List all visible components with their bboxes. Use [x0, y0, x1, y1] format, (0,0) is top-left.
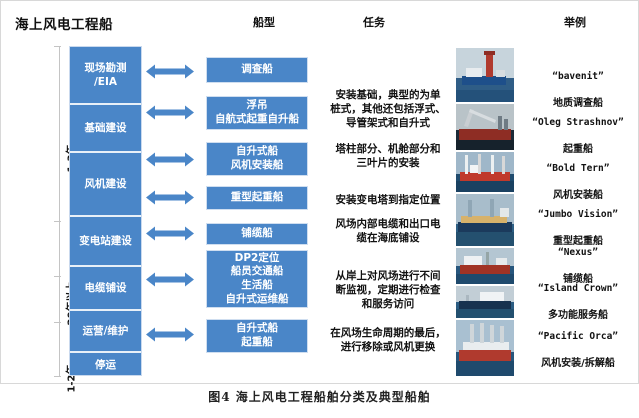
figure-caption: 图4 海上风电工程船舶分类及典型船舶 — [0, 388, 639, 405]
bracket-tick — [54, 46, 61, 47]
double-arrow-icon — [146, 104, 194, 121]
stage-label: 现场勘测 /EIA — [85, 61, 127, 89]
stage-label: 风机建设 — [85, 177, 127, 191]
shipbox-label: 自升式船 风机安装船 — [231, 145, 284, 172]
bracket-line — [59, 46, 60, 376]
bracket-tick — [54, 322, 61, 323]
example-pacific-orca: “Pacific Orca” 风机安装/拆解船 — [517, 316, 639, 385]
photo-pacific-orca — [456, 320, 514, 376]
photo-bold-tern — [456, 152, 514, 192]
shipbox-cable-layer[interactable]: 铺缆船 — [206, 223, 308, 245]
double-arrow-icon — [146, 326, 194, 343]
shipbox-label: 浮吊 自航式起重自升船 — [215, 99, 299, 126]
example-name-cn: 风机安装/拆解船 — [517, 357, 639, 371]
shipbox-floating-crane[interactable]: 浮吊 自航式起重自升船 — [206, 96, 308, 130]
shipbox-service-operation[interactable]: DP2定位 船员交通船 生活船 自升式运维船 — [206, 250, 308, 308]
task-substation: 安装变电塔到指定位置 — [323, 193, 453, 207]
example-name-en: “Island Crown” — [517, 282, 639, 295]
double-arrow-icon — [146, 225, 194, 242]
task-monitoring: 从岸上对风场进行不间 断监视，定期进行检查 和服务访问 — [323, 269, 453, 312]
photo-nexus — [456, 248, 514, 284]
stage-column: 现场勘测 /EIA 基础建设 风机建设 变电站建设 电缆铺设 运营/维护 停运 — [69, 46, 142, 376]
stage-label: 运营/维护 — [83, 324, 129, 338]
double-arrow-icon — [146, 63, 194, 80]
example-name-en: “Jumbo Vision” — [517, 208, 639, 221]
shipbox-label: DP2定位 船员交通船 生活船 自升式运维船 — [226, 252, 289, 307]
photo-oleg-strashnov — [456, 104, 514, 150]
shipbox-heavy-lift[interactable]: 重型起重船 — [206, 186, 308, 210]
task-turbine: 塔柱部分、机舱部分和 三叶片的安装 — [323, 142, 453, 170]
photo-jumbo-vision — [456, 194, 514, 246]
stage-operation-maintenance[interactable]: 运营/维护 — [70, 311, 141, 351]
bracket-tick — [54, 221, 61, 222]
task-decommission: 在风场生命周期的最后， 进行移除或风机更换 — [323, 326, 453, 354]
timeline-brackets: 1-3年 20年以上 1-2年 — [53, 46, 63, 376]
shipbox-jackup-crane[interactable]: 自升式船 起重船 — [206, 319, 308, 353]
photo-bavenit — [456, 48, 514, 102]
column-header-main: 海上风电工程船 — [15, 13, 113, 33]
example-name-en: “Oleg Strashnov” — [517, 116, 639, 129]
example-name-en: “Pacific Orca” — [517, 330, 639, 343]
example-name-en: “Bold Tern” — [517, 162, 639, 175]
column-header-ship-type: 船型 — [253, 14, 275, 30]
stage-cable-laying[interactable]: 电缆铺设 — [70, 267, 141, 309]
stage-site-survey[interactable]: 现场勘测 /EIA — [70, 47, 141, 103]
shipbox-jackup-installation[interactable]: 自升式船 风机安装船 — [206, 142, 308, 176]
task-foundation: 安装基础，典型的为单 桩式，其他还包括浮式、 导管架式和自升式 — [323, 88, 453, 131]
stage-label: 基础建设 — [85, 121, 127, 135]
example-name-en: “Nexus” — [517, 246, 639, 259]
shipbox-survey-vessel[interactable]: 调查船 — [206, 57, 308, 83]
stage-decommission[interactable]: 停运 — [70, 353, 141, 377]
stage-substation[interactable]: 变电站建设 — [70, 217, 141, 265]
double-arrow-icon — [146, 271, 194, 288]
shipbox-label: 自升式船 起重船 — [236, 322, 278, 349]
column-header-example: 举例 — [564, 14, 586, 30]
double-arrow-icon — [146, 151, 194, 168]
shipbox-label: 调查船 — [241, 63, 273, 77]
stage-foundation[interactable]: 基础建设 — [70, 105, 141, 151]
stage-label: 停运 — [95, 358, 116, 372]
stage-label: 电缆铺设 — [85, 281, 127, 295]
photo-island-crown — [456, 286, 514, 318]
figure-panel: 海上风电工程船 船型 任务 举例 1-3年 20年以上 1-2年 现场勘测 /E… — [0, 0, 639, 384]
task-cable: 风场内部电缆和出口电 缆在海底铺设 — [323, 217, 453, 245]
stage-turbine[interactable]: 风机建设 — [70, 153, 141, 215]
shipbox-label: 铺缆船 — [241, 227, 273, 241]
bracket-tick — [54, 376, 61, 377]
shipbox-label: 重型起重船 — [231, 191, 284, 205]
stage-label: 变电站建设 — [79, 234, 132, 248]
double-arrow-icon — [146, 189, 194, 206]
example-name-en: “bavenit” — [517, 70, 639, 83]
bracket-tick — [54, 276, 61, 277]
column-header-task: 任务 — [363, 14, 385, 30]
